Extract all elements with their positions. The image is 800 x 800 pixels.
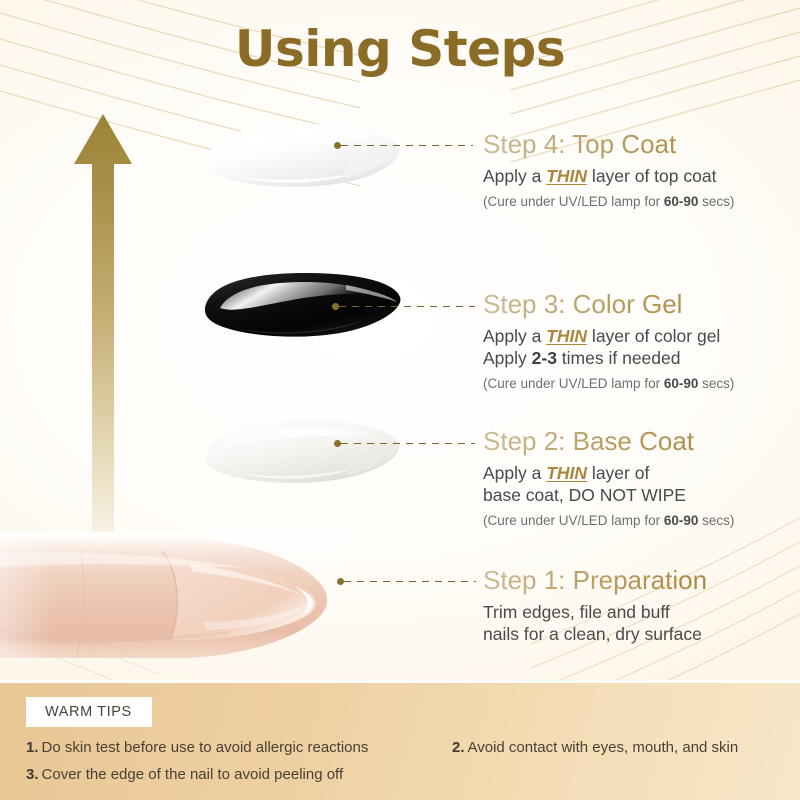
glossy-white-topcoat-nail xyxy=(196,118,406,195)
step-2-body-line2: base coat, DO NOT WIPE xyxy=(483,484,734,506)
step-3-body-line2: Apply 2-3 times if needed xyxy=(483,347,734,369)
step-3-note-prefix: (Cure under UV/LED lamp for xyxy=(483,376,664,391)
step-1-body-line1: Trim edges, file and buff xyxy=(483,601,707,623)
page-title: Using Steps xyxy=(0,20,800,78)
step-1-body: Trim edges, file and buff nails for a cl… xyxy=(483,601,707,646)
leader-dot-step-2 xyxy=(334,440,341,447)
step-3-repeat-count: 2-3 xyxy=(532,348,557,368)
step-1-body-line2: nails for a clean, dry surface xyxy=(483,623,707,645)
step-3-body-before: Apply a xyxy=(483,326,546,346)
leader-dash-step-1 xyxy=(344,581,476,583)
step-4-body: Apply a THIN layer of top coat xyxy=(483,165,734,187)
leader-dot-step-3 xyxy=(332,303,339,310)
step-3-body-after: layer of color gel xyxy=(587,326,720,346)
warm-tip-1-number: 1. xyxy=(26,739,39,756)
warm-tip-3: 3.Cover the edge of the nail to avoid pe… xyxy=(26,766,343,783)
matte-white-basecoat-nail xyxy=(196,414,406,491)
leader-dot-step-1 xyxy=(337,578,344,585)
infographic-page: Using Steps xyxy=(0,0,800,800)
step-3-block: Step 3: Color Gel Apply a THIN layer of … xyxy=(483,289,734,391)
step-3-body: Apply a THIN layer of color gel Apply 2-… xyxy=(483,325,734,370)
leader-dash-step-2 xyxy=(341,443,475,445)
step-3-line2-after: times if needed xyxy=(557,348,681,368)
step-3-cure-note: (Cure under UV/LED lamp for 60-90 secs) xyxy=(483,376,734,391)
step-2-body-after: layer of xyxy=(587,463,649,483)
leader-line-step-4 xyxy=(334,139,476,151)
warm-tip-3-text: Cover the edge of the nail to avoid peel… xyxy=(42,766,344,783)
step-1-heading: Step 1: Preparation xyxy=(483,565,707,596)
warm-tips-badge: WARM TIPS xyxy=(26,697,152,727)
step-3-note-suffix: secs) xyxy=(698,376,734,391)
warm-tips-footer: WARM TIPS 1.Do skin test before use to a… xyxy=(0,680,800,800)
step-2-note-suffix: secs) xyxy=(698,513,734,528)
step-2-note-duration: 60-90 xyxy=(664,513,699,528)
leader-line-step-1 xyxy=(337,575,479,587)
warm-tip-3-number: 3. xyxy=(26,766,39,783)
leader-dash-step-4 xyxy=(341,145,473,147)
step-4-heading: Step 4: Top Coat xyxy=(483,129,734,160)
leader-line-step-2 xyxy=(334,437,478,449)
warm-tip-2-number: 2. xyxy=(452,739,465,756)
step-3-line2-before: Apply xyxy=(483,348,532,368)
step-4-block: Step 4: Top Coat Apply a THIN layer of t… xyxy=(483,129,734,209)
step-4-note-duration: 60-90 xyxy=(664,194,699,209)
step-4-body-before: Apply a xyxy=(483,166,546,186)
warm-tip-1: 1.Do skin test before use to avoid aller… xyxy=(26,739,368,756)
step-4-cure-note: (Cure under UV/LED lamp for 60-90 secs) xyxy=(483,194,734,209)
warm-tip-2: 2.Avoid contact with eyes, mouth, and sk… xyxy=(452,739,738,756)
step-2-body-before: Apply a xyxy=(483,463,546,483)
step-4-emphasis-thin: THIN xyxy=(546,166,587,186)
leader-dash-step-3 xyxy=(339,306,475,308)
upward-progress-arrow xyxy=(72,112,134,587)
step-2-block: Step 2: Base Coat Apply a THIN layer of … xyxy=(483,426,734,528)
step-3-emphasis-thin: THIN xyxy=(546,326,587,346)
step-2-heading: Step 2: Base Coat xyxy=(483,426,734,457)
warm-tip-1-text: Do skin test before use to avoid allergi… xyxy=(42,739,369,756)
warm-tip-2-text: Avoid contact with eyes, mouth, and skin xyxy=(468,739,739,756)
step-3-heading: Step 3: Color Gel xyxy=(483,289,734,320)
step-2-emphasis-thin: THIN xyxy=(546,463,587,483)
step-1-block: Step 1: Preparation Trim edges, file and… xyxy=(483,565,707,645)
step-4-note-prefix: (Cure under UV/LED lamp for xyxy=(483,194,664,209)
leader-dot-step-4 xyxy=(334,142,341,149)
step-2-note-prefix: (Cure under UV/LED lamp for xyxy=(483,513,664,528)
step-4-note-suffix: secs) xyxy=(698,194,734,209)
step-3-note-duration: 60-90 xyxy=(664,376,699,391)
step-2-cure-note: (Cure under UV/LED lamp for 60-90 secs) xyxy=(483,513,734,528)
bare-finger-nail-photo xyxy=(0,524,344,689)
leader-line-step-3 xyxy=(332,300,478,312)
step-2-body: Apply a THIN layer of base coat, DO NOT … xyxy=(483,462,734,507)
step-4-body-after: layer of top coat xyxy=(587,166,716,186)
